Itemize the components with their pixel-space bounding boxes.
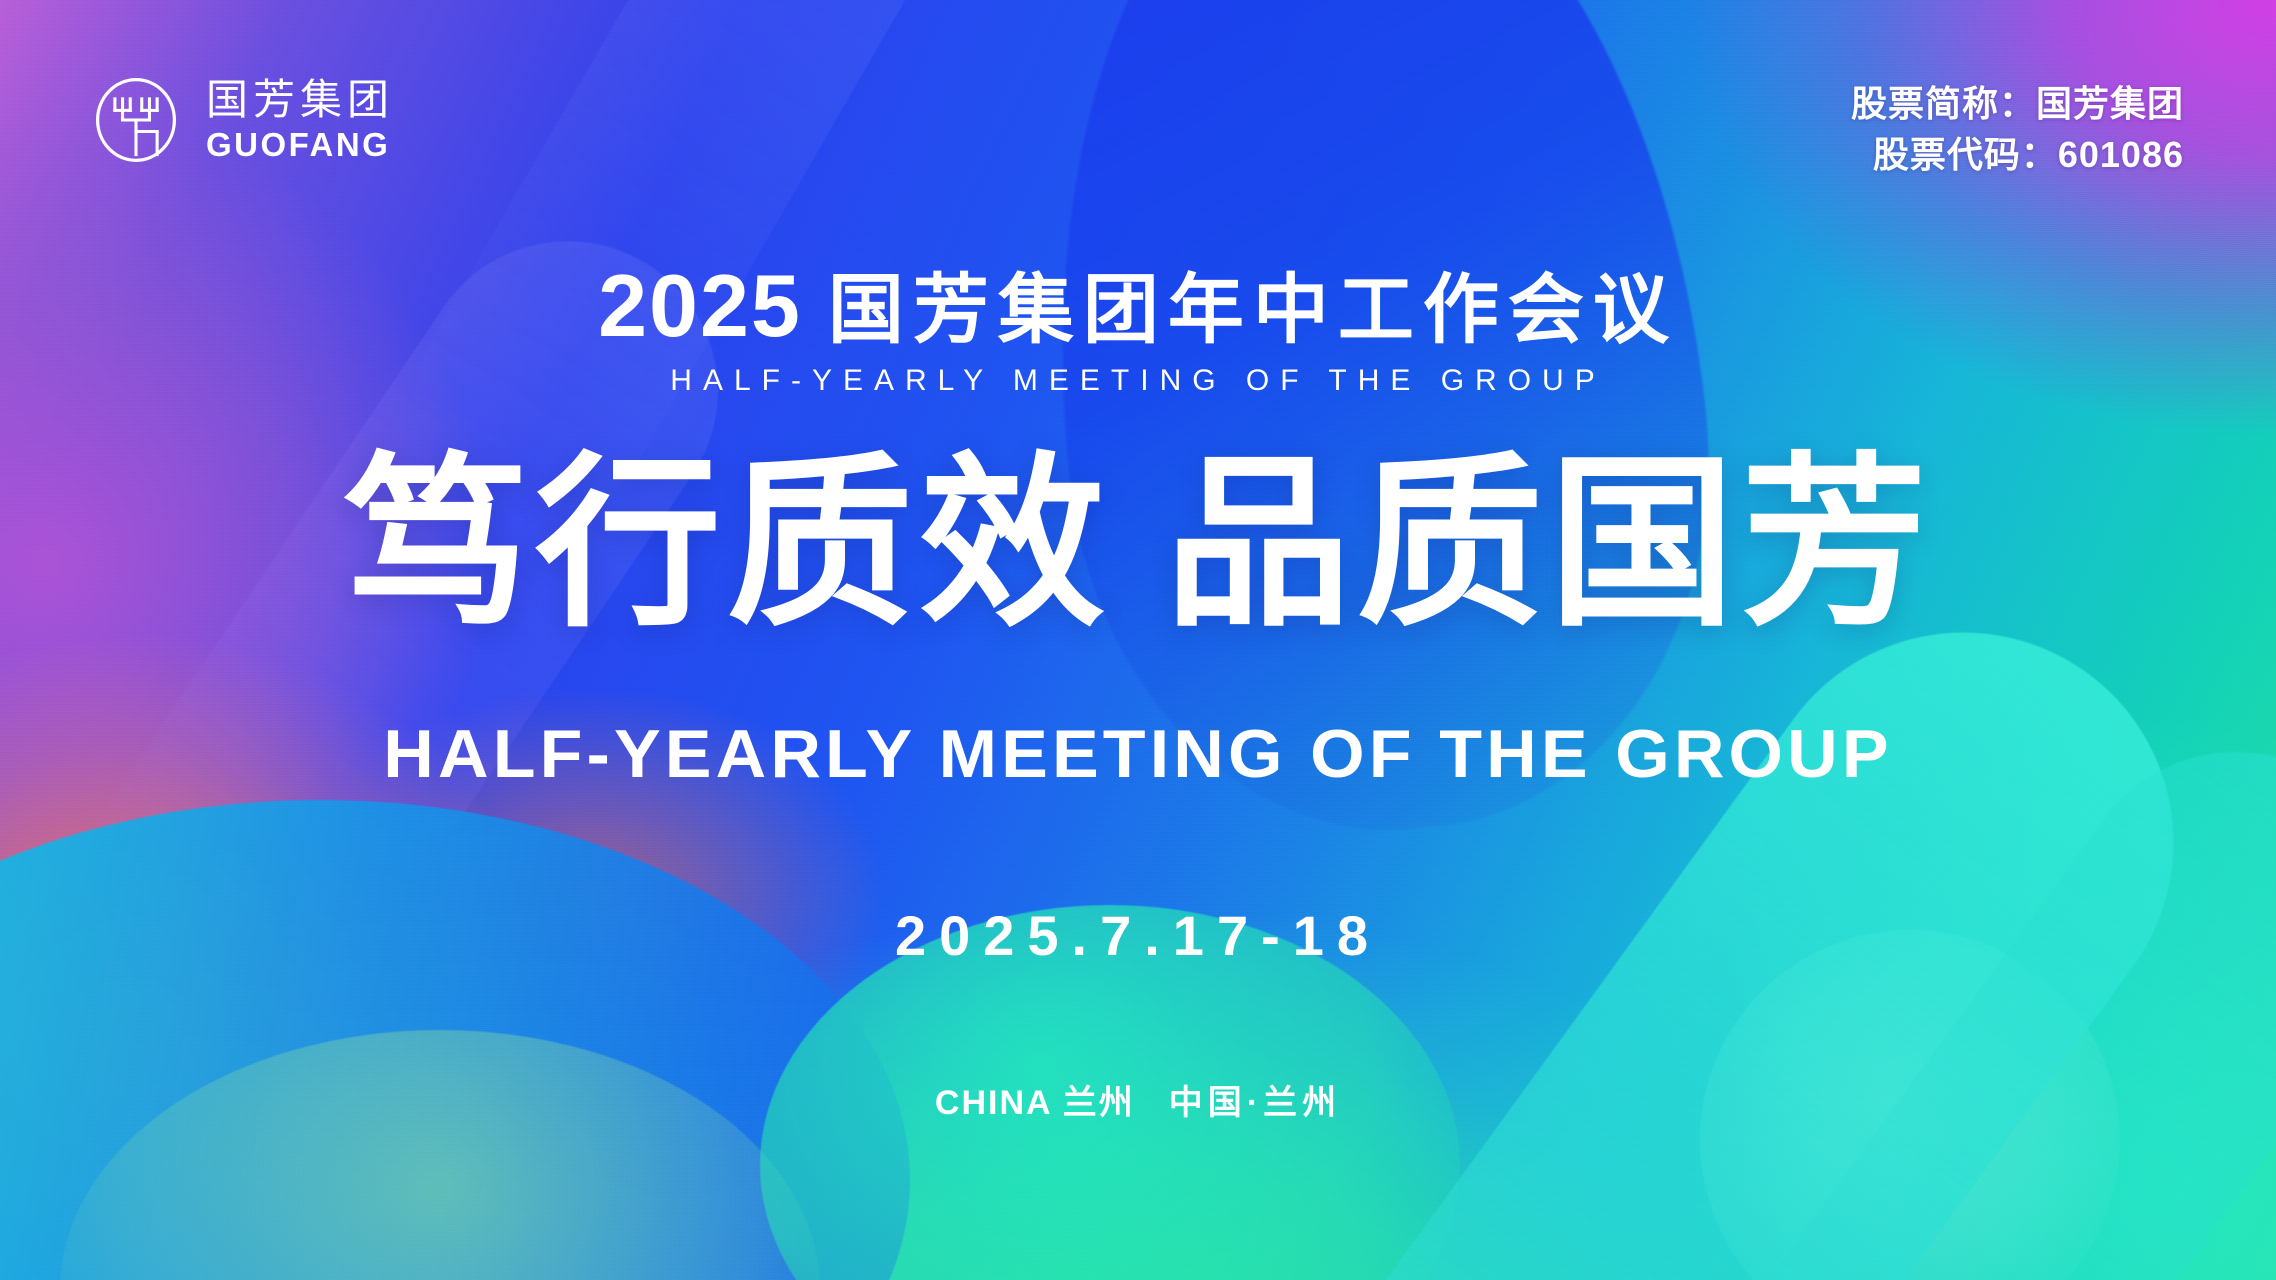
event-year: 2025 [598, 262, 802, 350]
slogan-part-1: 笃行质效 [343, 441, 1111, 648]
brand-logo-lockup: 国芳集团 GUOFANG [88, 72, 394, 168]
event-location-cn: 中国·兰州 [1169, 1084, 1341, 1122]
stock-code-line: 股票代码：601086 [1851, 129, 2184, 180]
brand-name-cn: 国芳集团 [206, 79, 394, 121]
brand-wordmark: 国芳集团 GUOFANG [206, 79, 394, 161]
deer-in-circle-logo-icon [88, 72, 184, 168]
event-kicker-main: 2025 国芳集团年中工作会议 [598, 262, 1678, 350]
event-subtitle-en: HALF-YEARLY MEETING OF THE GROUP [0, 364, 2276, 398]
slogan-headline-english: HALF-YEARLY MEETING OF THE GROUP [0, 720, 2276, 788]
event-date: 2025.7.17-18 [0, 908, 2276, 964]
event-location: CHINA 兰州中国·兰州 [0, 1086, 2276, 1120]
event-location-en: CHINA 兰州 [935, 1084, 1135, 1122]
stock-info-block: 股票简称：国芳集团 股票代码：601086 [1851, 78, 2184, 180]
event-kicker: 2025 国芳集团年中工作会议 HALF-YEARLY MEETING OF T… [0, 262, 2276, 398]
slogan-headline: 笃行质效品质国芳 [0, 452, 2276, 638]
brand-name-en: GUOFANG [206, 128, 394, 161]
conference-poster: 国芳集团 GUOFANG 股票简称：国芳集团 股票代码：601086 2025 … [0, 0, 2276, 1280]
poster-content: 国芳集团 GUOFANG 股票简称：国芳集团 股票代码：601086 2025 … [0, 0, 2276, 1280]
event-title-cn: 国芳集团年中工作会议 [828, 273, 1678, 349]
stock-name-line: 股票简称：国芳集团 [1851, 78, 2184, 129]
slogan-part-2: 品质国芳 [1165, 441, 1933, 648]
